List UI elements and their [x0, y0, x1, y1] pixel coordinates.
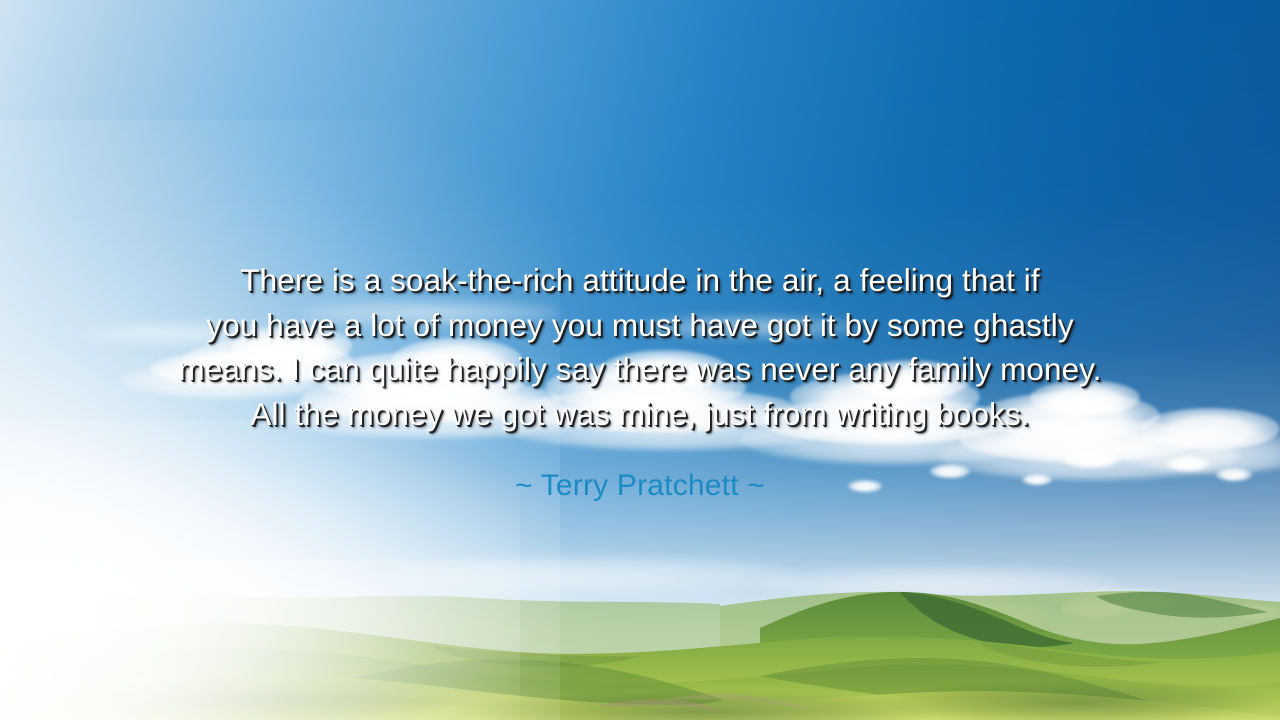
quote-text: There is a soak-the-rich attitude in the… — [90, 258, 1190, 436]
quote-image-canvas: There is a soak-the-rich attitude in the… — [0, 0, 1280, 720]
quote-author-attribution: ~ Terry Pratchett ~ — [0, 436, 1280, 505]
quote-block: There is a soak-the-rich attitude in the… — [0, 258, 1280, 505]
